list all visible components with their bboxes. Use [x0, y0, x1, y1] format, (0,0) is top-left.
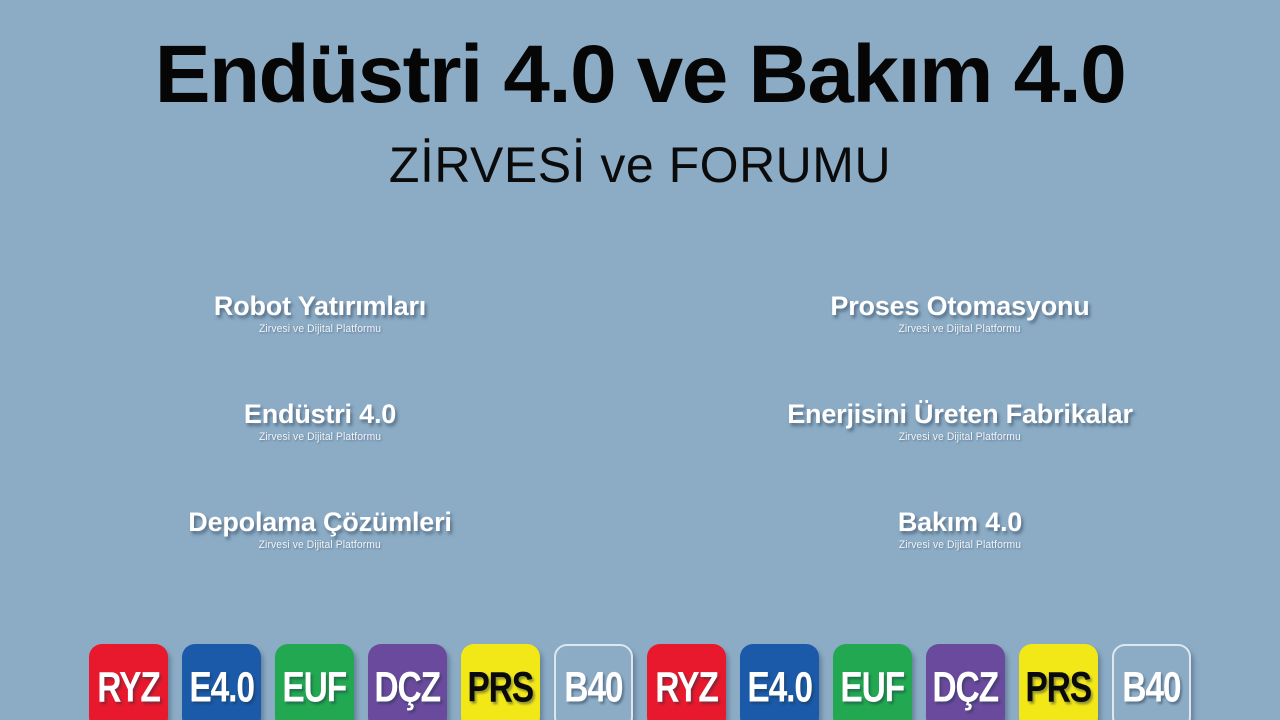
brand-badge-label: EUF [841, 666, 905, 709]
page-subtitle-conjunction: ve [600, 137, 654, 193]
brand-badge-ryz[interactable]: RYZ [89, 644, 168, 720]
event-column-right: Proses Otomasyonu Zirvesi ve Dijital Pla… [640, 292, 1280, 616]
brand-badge-euf[interactable]: EUF [275, 644, 354, 720]
brand-badge-strip: RYZE4.0EUFDÇZPRSB40RYZE4.0EUFDÇZPRSB40 [0, 644, 1280, 720]
brand-badge-label: RYZ [655, 666, 718, 709]
event-name: Bakım 4.0 [895, 508, 1025, 538]
brand-badge-label: RYZ [97, 666, 160, 709]
event-subtitle: Zirvesi ve Dijital Platformu [798, 431, 1123, 443]
brand-badge-label: B40 [1122, 666, 1180, 709]
event-item-robot-yatirimlari[interactable]: Robot Yatırımları Zirvesi ve Dijital Pla… [214, 292, 426, 400]
event-subtitle: Zirvesi ve Dijital Platformu [196, 539, 444, 551]
brand-badge-dz[interactable]: DÇZ [926, 644, 1005, 720]
brand-badge-label: EUF [283, 666, 347, 709]
event-item-depolama-cozumleri[interactable]: Depolama Çözümleri Zirvesi ve Dijital Pl… [188, 508, 451, 616]
page-subtitle-part2: FORUMU [669, 137, 891, 193]
event-name: Robot Yatırımları [214, 292, 426, 322]
brand-badge-dz[interactable]: DÇZ [368, 644, 447, 720]
brand-badge-prs[interactable]: PRS [1019, 644, 1098, 720]
brand-badge-ryz[interactable]: RYZ [647, 644, 726, 720]
event-subtitle: Zirvesi ve Dijital Platformu [220, 323, 419, 335]
event-subtitle: Zirvesi ve Dijital Platformu [899, 539, 1021, 551]
event-subtitle: Zirvesi ve Dijital Platformu [838, 323, 1082, 335]
page-subtitle-part1: ZİRVESİ [389, 137, 586, 193]
brand-badge-label: PRS [468, 666, 534, 709]
brand-badge-b40[interactable]: B40 [1112, 644, 1191, 720]
event-item-bakim-40[interactable]: Bakım 4.0 Zirvesi ve Dijital Platformu [895, 508, 1025, 616]
brand-badge-label: DÇZ [933, 666, 999, 709]
brand-badge-prs[interactable]: PRS [461, 644, 540, 720]
event-item-enerjisini-ureten-fabrikalar[interactable]: Enerjisini Üreten Fabrikalar Zirvesi ve … [787, 400, 1133, 508]
event-name: Depolama Çözümleri [188, 508, 451, 538]
brand-badge-label: PRS [1026, 666, 1092, 709]
page-title: Endüstri 4.0 ve Bakım 4.0 [0, 34, 1280, 116]
brand-badge-label: E4.0 [747, 666, 812, 709]
brand-badge-e40[interactable]: E4.0 [182, 644, 261, 720]
brand-badge-label: DÇZ [375, 666, 441, 709]
page-subtitle: ZİRVESİ ve FORUMU [0, 140, 1280, 190]
event-name: Endüstri 4.0 [244, 400, 396, 430]
event-name: Enerjisini Üreten Fabrikalar [787, 400, 1133, 430]
brand-badge-label: E4.0 [189, 666, 254, 709]
event-subtitle: Zirvesi ve Dijital Platformu [248, 431, 391, 443]
event-item-proses-otomasyonu[interactable]: Proses Otomasyonu Zirvesi ve Dijital Pla… [830, 292, 1089, 400]
poster-header: Endüstri 4.0 ve Bakım 4.0 ZİRVESİ ve FOR… [0, 0, 1280, 190]
event-item-endustri-40[interactable]: Endüstri 4.0 Zirvesi ve Dijital Platform… [244, 400, 396, 508]
event-column-left: Robot Yatırımları Zirvesi ve Dijital Pla… [0, 292, 640, 616]
brand-badge-b40[interactable]: B40 [554, 644, 633, 720]
event-name: Proses Otomasyonu [830, 292, 1089, 322]
brand-badge-e40[interactable]: E4.0 [740, 644, 819, 720]
brand-badge-euf[interactable]: EUF [833, 644, 912, 720]
event-list: Robot Yatırımları Zirvesi ve Dijital Pla… [0, 292, 1280, 616]
brand-badge-label: B40 [564, 666, 622, 709]
